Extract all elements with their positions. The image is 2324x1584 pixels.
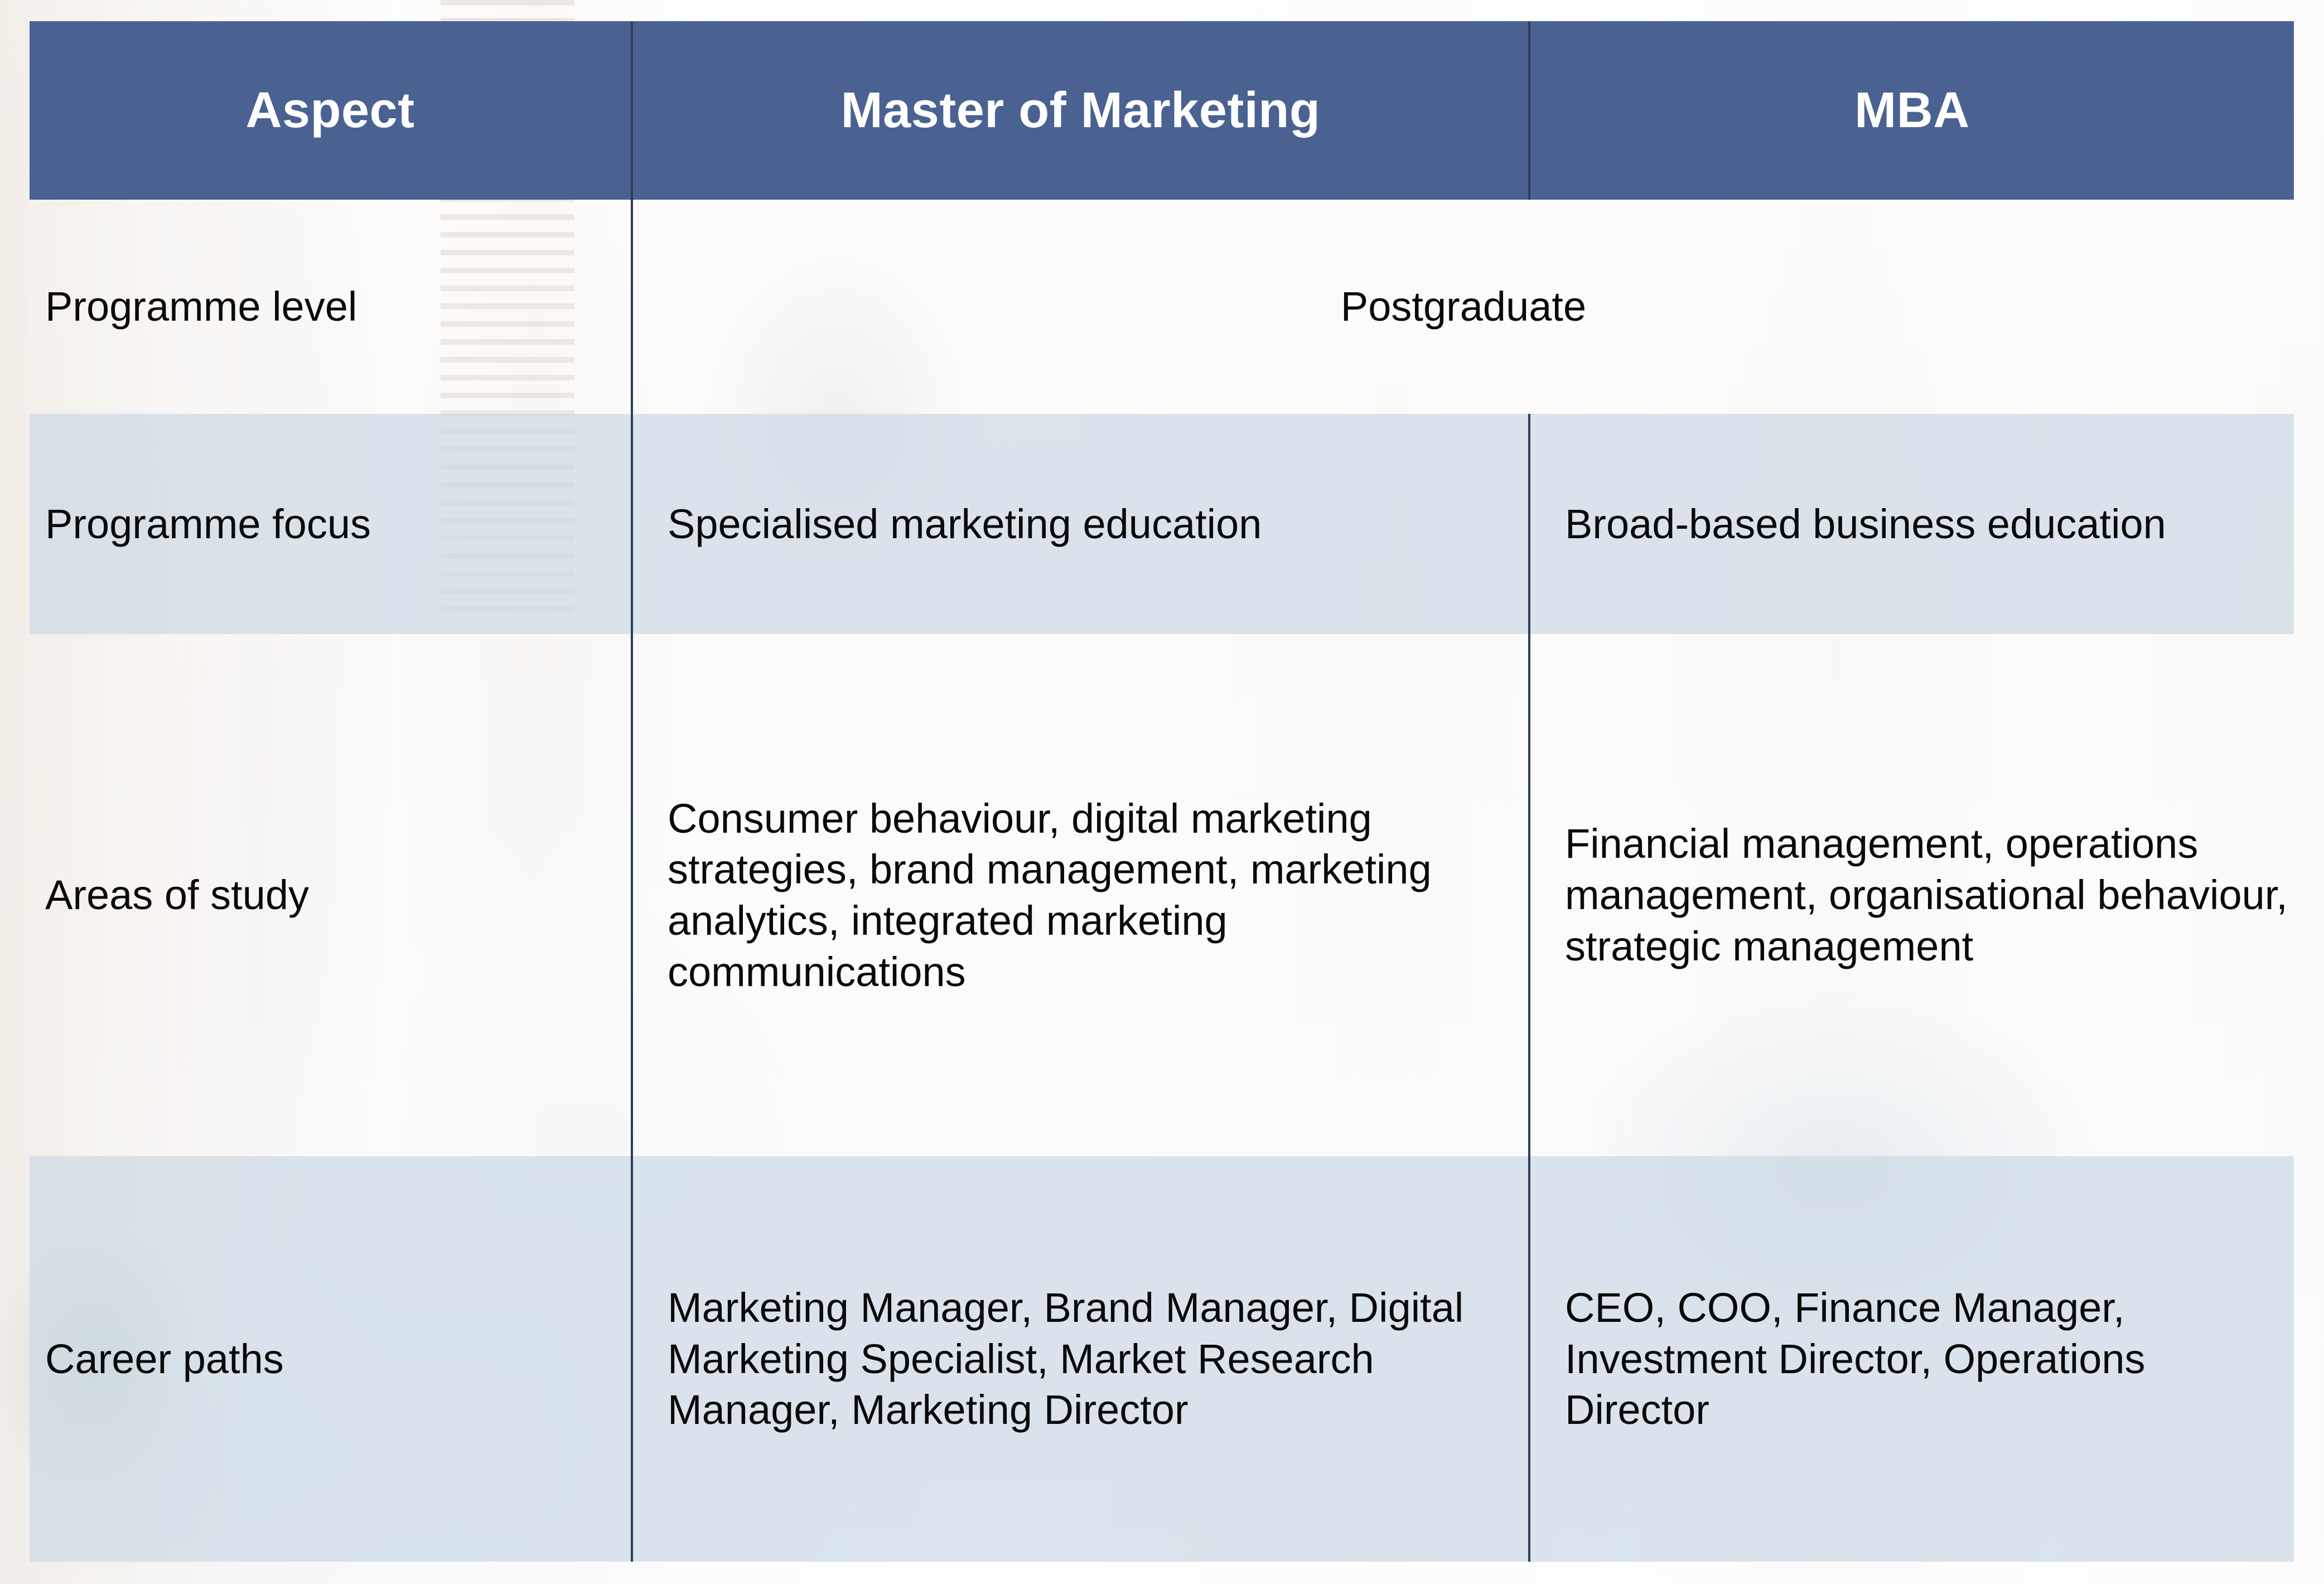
table-row: Career paths Marketing Manager, Brand Ma… [30,1156,2294,1562]
cell-mom-programme-focus: Specialised marketing education [632,414,1529,634]
cell-aspect-career-paths: Career paths [30,1156,632,1562]
cell-aspect-programme-focus: Programme focus [30,414,632,634]
comparison-table-container: Aspect Master of Marketing MBA Programme… [30,21,2294,1562]
table-header: Aspect Master of Marketing MBA [30,21,2294,200]
header-cell-aspect: Aspect [30,21,632,200]
cell-aspect-areas-of-study: Areas of study [30,634,632,1156]
header-cell-master-of-marketing: Master of Marketing [632,21,1529,200]
cell-mba-areas-of-study: Financial management, operations managem… [1529,634,2294,1156]
table-row: Programme focus Specialised marketing ed… [30,414,2294,634]
cell-mom-areas-of-study: Consumer behaviour, digital marketing st… [632,634,1529,1156]
cell-merged-programme-level: Postgraduate [632,200,2294,414]
comparison-table: Aspect Master of Marketing MBA Programme… [30,21,2294,1562]
table-row: Areas of study Consumer behaviour, digit… [30,634,2294,1156]
cell-mba-career-paths: CEO, COO, Finance Manager, Investment Di… [1529,1156,2294,1562]
cell-aspect-programme-level: Programme level [30,200,632,414]
table-body: Programme level Postgraduate Programme f… [30,200,2294,1562]
table-row: Programme level Postgraduate [30,200,2294,414]
header-row: Aspect Master of Marketing MBA [30,21,2294,200]
cell-mom-career-paths: Marketing Manager, Brand Manager, Digita… [632,1156,1529,1562]
slide-canvas: Aspect Master of Marketing MBA Programme… [0,0,2324,1584]
header-cell-mba: MBA [1529,21,2294,200]
cell-mba-programme-focus: Broad-based business education [1529,414,2294,634]
